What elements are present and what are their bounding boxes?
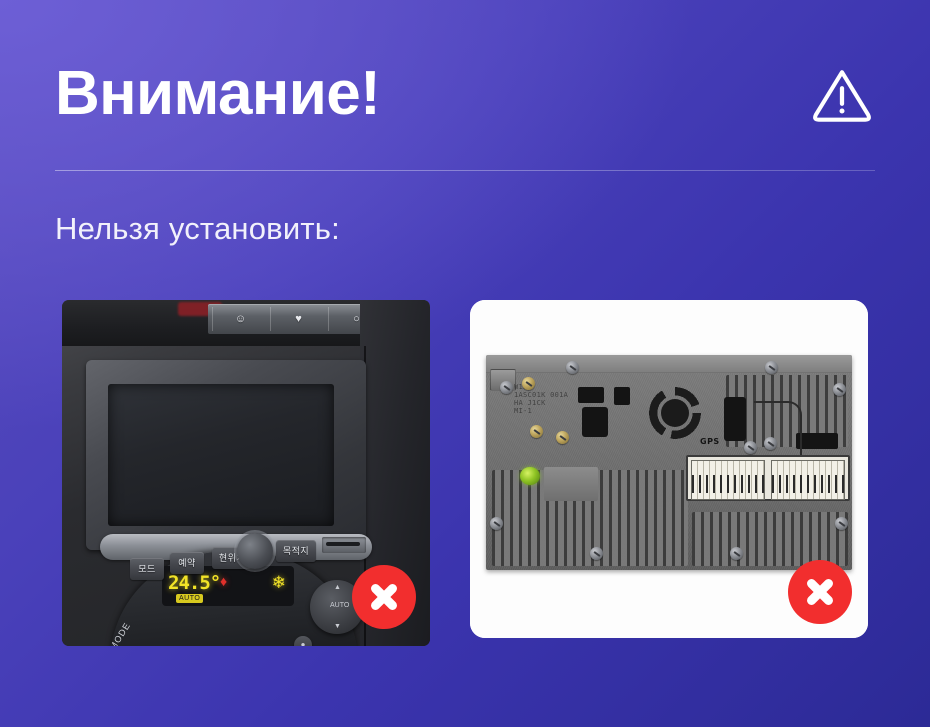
port-antenna-jack: [582, 407, 608, 437]
port-rear-rectangle: [796, 433, 838, 449]
chassis-contour-line: [754, 401, 802, 457]
chassis-top-rail: [486, 355, 852, 373]
connector-pins-left: [692, 475, 764, 493]
defog-front-icon: ♥: [270, 307, 326, 331]
head-unit-bezel: [86, 360, 366, 550]
chassis-embossed-text: W1EA1ASC01K 001AHA J1CKMI-1: [514, 383, 568, 415]
screw-1: [500, 381, 513, 394]
x-mark-badge: [788, 560, 852, 624]
fan-hub: [661, 399, 689, 427]
iso-connector-block: [686, 455, 850, 501]
screw-9: [764, 437, 777, 450]
screw-3: [566, 361, 579, 374]
climate-button-6: ●: [294, 636, 312, 646]
heatsink-fins-bottom-right: [692, 512, 848, 566]
climate-pad-up-icon: ▲: [334, 584, 341, 591]
volume-knob: [237, 533, 273, 569]
chassis-flat-plate: [544, 467, 598, 501]
climate-temperature-readout: 24.5°: [168, 572, 220, 594]
head-unit-chassis: GPS W1EA1ASC01K 001AHA J1CKMI-1: [486, 355, 852, 570]
photo-gallery: ☺ ♥ ○ 모드 예약 현위치 목적지: [0, 0, 930, 727]
slide-root: Внимание! Нельзя установить: ☺ ♥ ○: [0, 0, 930, 727]
photo-card-car-dashboard[interactable]: ☺ ♥ ○ 모드 예약 현위치 목적지: [62, 300, 430, 646]
gps-port-label: GPS: [700, 437, 720, 446]
screw-4: [765, 361, 778, 374]
climate-pad-auto-label: AUTO: [330, 602, 349, 609]
screw-11: [835, 517, 848, 530]
connector-pins-right: [772, 475, 844, 493]
screw-2: [522, 377, 535, 390]
head-unit-screen: [108, 384, 334, 526]
head-unit-button-reserve: 예약: [170, 552, 204, 574]
climate-auto-badge: AUTO: [176, 594, 203, 603]
climate-seat-heat-icon: ♦: [220, 573, 227, 589]
climate-pad-down-icon: ▼: [334, 623, 341, 630]
screw-5: [833, 383, 846, 396]
disc-slot: [322, 537, 366, 553]
head-unit-button-destination: 목적지: [276, 540, 316, 562]
screw-8: [744, 441, 757, 454]
x-mark-badge: [352, 565, 416, 629]
port-antenna-slot: [578, 387, 604, 403]
climate-fan-icon: ❄: [272, 573, 286, 593]
screw-12: [590, 547, 603, 560]
screw-7: [556, 431, 569, 444]
screw-10: [490, 517, 503, 530]
green-grommet: [520, 467, 540, 485]
screw-6: [530, 425, 543, 438]
photo-card-head-unit-rear[interactable]: GPS W1EA1ASC01K 001AHA J1CKMI-1: [470, 300, 868, 638]
port-small-square: [614, 387, 630, 405]
connector-half-right: [771, 460, 845, 500]
climate-mode-label: MODE: [108, 620, 133, 646]
head-unit-button-mode: 모드: [130, 558, 164, 580]
port-gps-jack: [724, 397, 746, 441]
screw-13: [730, 547, 743, 560]
connector-half-left: [691, 460, 765, 500]
defog-rear-icon: ☺: [212, 307, 268, 331]
